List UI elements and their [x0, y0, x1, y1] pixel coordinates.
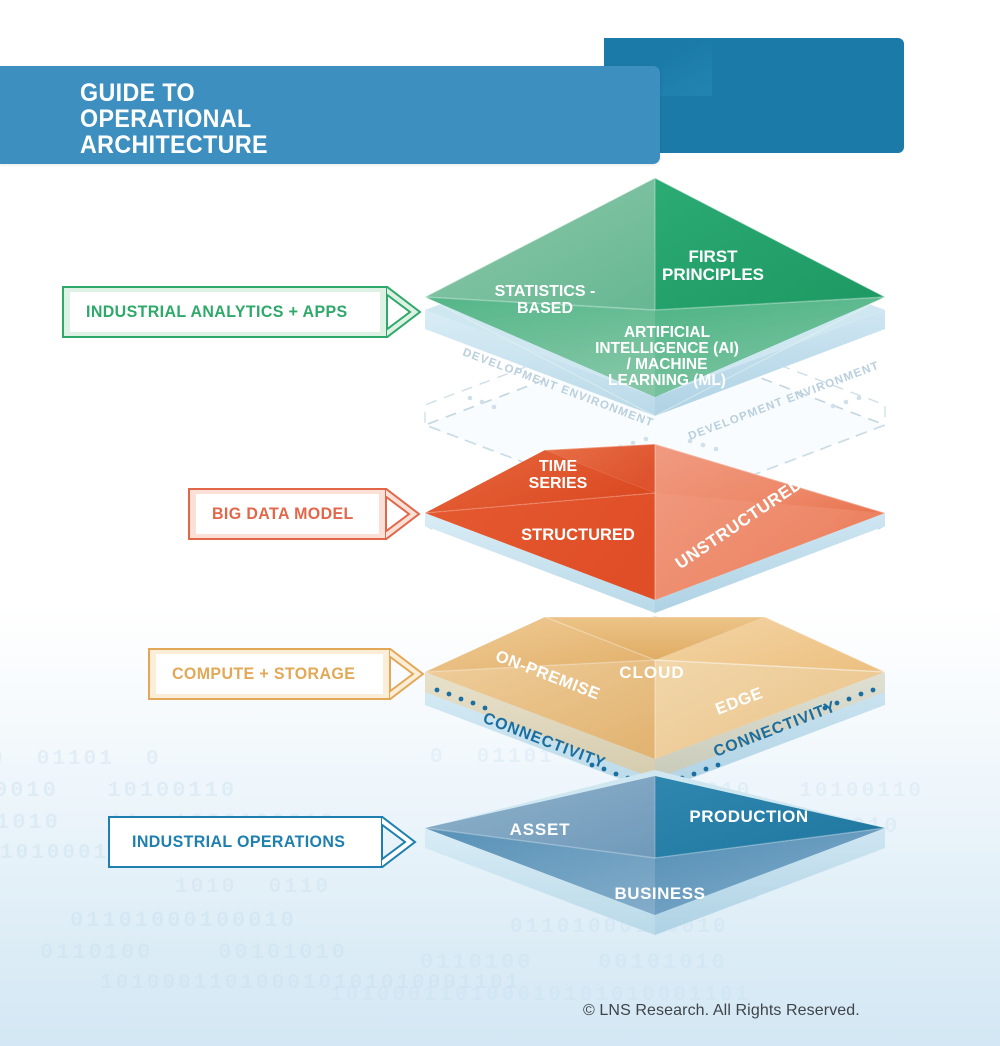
label-first-principles-l2: PRINCIPLES [662, 265, 764, 284]
callout-industrial-operations[interactable]: INDUSTRIAL OPERATIONS [108, 816, 417, 868]
callout-arrow-operations [383, 816, 417, 868]
page-subtitle: Common Data, Apps, and Analytics [80, 163, 268, 242]
header-text-group: GUIDE TO OPERATIONAL ARCHITECTURE Common… [80, 80, 282, 242]
callout-arrow-analytics [388, 286, 422, 338]
label-first-principles-l1: FIRST [688, 247, 738, 266]
callout-label-operations: INDUSTRIAL OPERATIONS [132, 832, 345, 852]
label-ai-ml-l4: LEARNING (ML) [608, 372, 726, 389]
label-time-series-l1: TIME [539, 458, 578, 475]
copyright-notice: © LNS Research. All Rights Reserved. [583, 1002, 860, 1020]
segment-first-principles[interactable] [655, 178, 885, 310]
label-time-series-l2: SERIES [529, 475, 588, 492]
callout-arrow-compute [391, 648, 425, 700]
label-statistics-based-l2: BASED [517, 300, 573, 317]
callout-industrial-analytics[interactable]: INDUSTRIAL ANALYTICS + APPS [62, 286, 422, 338]
callout-arrow-bigdata [387, 488, 421, 540]
layer-industrial-operations[interactable]: ASSET PRODUCTION BUSINESS [425, 770, 885, 935]
label-ai-ml-l1: ARTIFICIAL [624, 324, 710, 341]
label-ai-ml-l3: / MACHINE [627, 356, 708, 373]
page-title: GUIDE TO OPERATIONAL ARCHITECTURE [80, 80, 268, 158]
callout-label-analytics: INDUSTRIAL ANALYTICS + APPS [86, 302, 348, 322]
callout-big-data-model[interactable]: BIG DATA MODEL [188, 488, 421, 540]
layer-big-data-model[interactable]: TIME SERIES STRUCTURED UNSTRUCTURED [425, 444, 885, 613]
label-structured: STRUCTURED [521, 526, 635, 544]
callout-compute-storage[interactable]: COMPUTE + STORAGE [148, 648, 425, 700]
layer-compute-storage[interactable]: CLOUD ON-PREMISE EDGE CONNECTIVITY CONNE… [425, 616, 885, 792]
label-cloud: CLOUD [619, 663, 684, 682]
callout-label-compute: COMPUTE + STORAGE [172, 664, 355, 684]
label-statistics-based-l1: STATISTICS - [495, 283, 596, 300]
label-production: PRODUCTION [689, 807, 808, 826]
label-business: BUSINESS [615, 884, 706, 903]
label-asset: ASSET [510, 820, 571, 839]
callout-label-bigdata: BIG DATA MODEL [212, 504, 354, 524]
label-ai-ml-l2: INTELLIGENCE (AI) [595, 340, 739, 357]
